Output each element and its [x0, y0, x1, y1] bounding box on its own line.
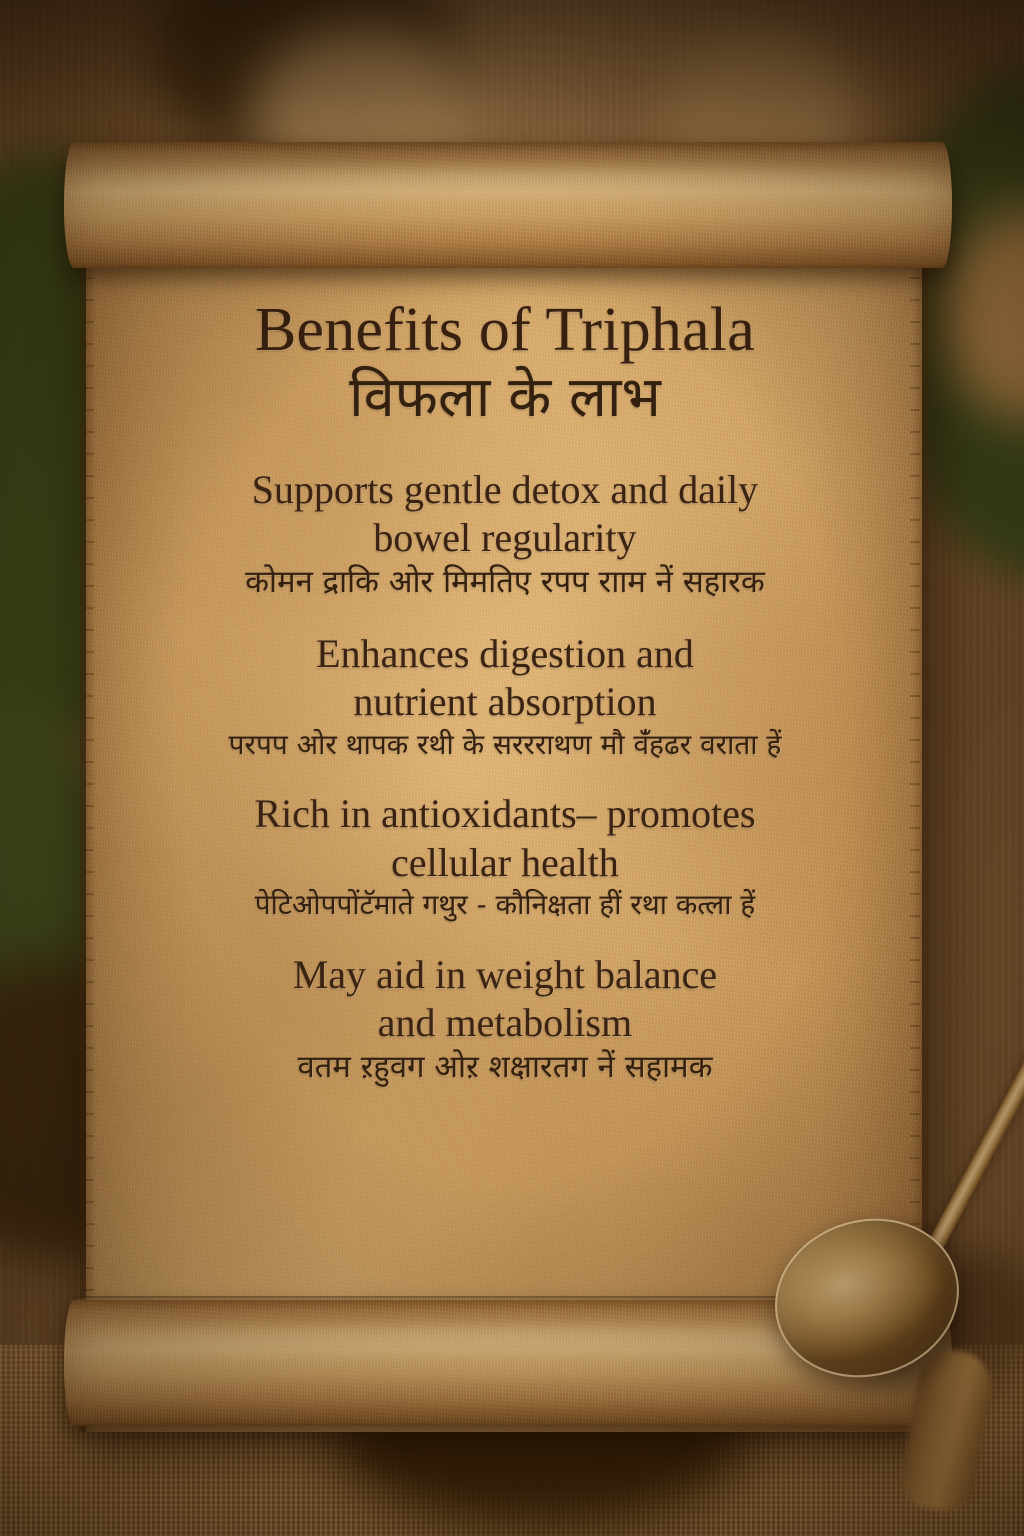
poster-canvas: Benefits of Triphala विफला के लाभ Suppor…: [0, 0, 1024, 1536]
vignette-overlay: [0, 0, 1024, 1536]
